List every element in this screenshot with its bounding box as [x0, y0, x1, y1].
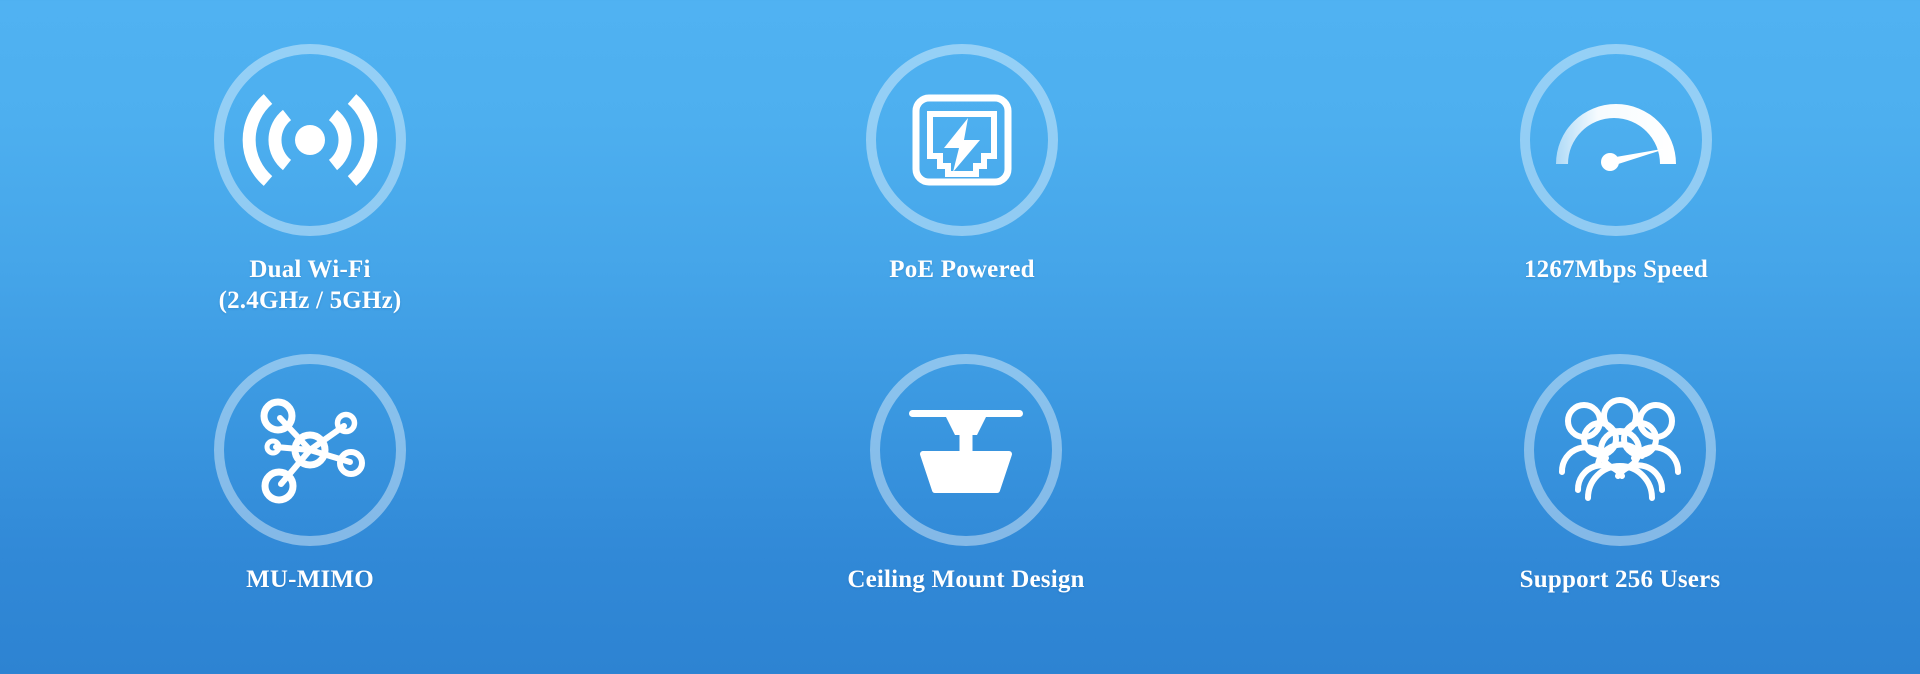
feature-label: Ceiling Mount Design: [847, 564, 1084, 595]
feature-grid: Dual Wi-Fi (2.4GHz / 5GHz) PoE Powered: [0, 0, 1920, 674]
feature-label: Support 256 Users: [1520, 564, 1721, 595]
wifi-signal-icon: [249, 84, 371, 196]
feature-label: Dual Wi-Fi (2.4GHz / 5GHz): [219, 254, 402, 317]
ceiling-mount-icon: [907, 404, 1025, 496]
group-of-users-icon: [1558, 398, 1682, 502]
feature-label: PoE Powered: [889, 254, 1034, 285]
feature-icon-ring: [214, 354, 406, 546]
speedometer-icon: [1548, 84, 1684, 196]
feature-item-user-capacity[interactable]: Support 256 Users: [1300, 350, 1920, 595]
feature-icon-ring: [1520, 44, 1712, 236]
network-nodes-icon: [252, 392, 368, 508]
feature-label: 1267Mbps Speed: [1524, 254, 1708, 285]
feature-item-mu-mimo[interactable]: MU-MIMO: [0, 350, 630, 595]
feature-item-poe-powered[interactable]: PoE Powered: [642, 44, 1282, 285]
feature-icon-ring: [1524, 354, 1716, 546]
feature-label: MU-MIMO: [246, 564, 374, 595]
feature-item-dual-wifi[interactable]: Dual Wi-Fi (2.4GHz / 5GHz): [0, 44, 630, 317]
poe-ethernet-port-icon: [906, 84, 1018, 196]
feature-icon-ring: [870, 354, 1062, 546]
feature-item-ceiling-mount[interactable]: Ceiling Mount Design: [646, 350, 1286, 595]
feature-item-speed[interactable]: 1267Mbps Speed: [1296, 44, 1920, 285]
feature-icon-ring: [866, 44, 1058, 236]
feature-icon-ring: [214, 44, 406, 236]
